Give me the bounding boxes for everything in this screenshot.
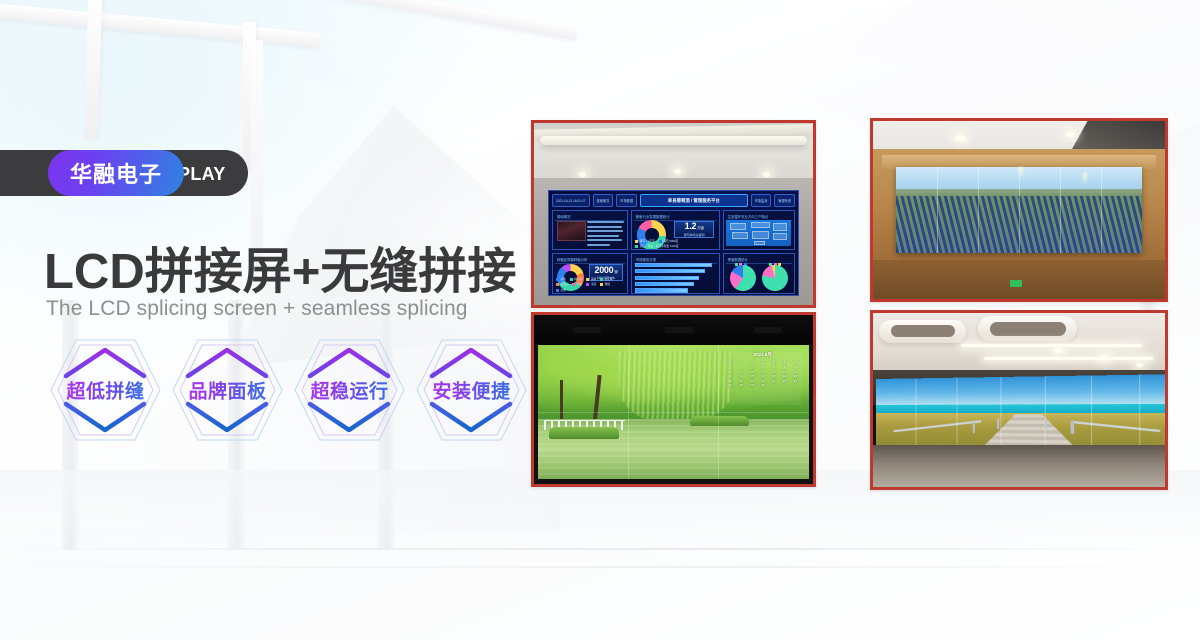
wall-washer-light-2 <box>1083 173 1087 185</box>
dashboard-nav-overview: 基础概况 <box>593 194 614 207</box>
pie-charts-quarterly <box>726 267 791 289</box>
bar-chart-services <box>635 263 715 291</box>
dashboard-card-service-categories: 市场服务分类 <box>631 253 720 293</box>
calendar-day <box>736 365 746 369</box>
chart-legend-industry: 葡萄 1.2万亩 葡萄 5000亩 酒庄、果品、观光等配套 1100亩 <box>635 239 715 249</box>
calendar-day <box>725 365 735 369</box>
calendar-day: 2 <box>758 365 768 369</box>
dashboard-nav-monitor: 市场监测 <box>751 194 772 207</box>
legend-entry: 基地 <box>560 278 565 281</box>
feature-badge-list: 超低拼缝 品牌面板 超稳运行 <box>48 336 529 444</box>
ceiling-fixture-1-recess <box>891 325 955 337</box>
feature-badge-label: 安装便捷 <box>414 377 529 404</box>
photo-solar-farm-video-wall[interactable] <box>870 118 1168 302</box>
rope-post-4 <box>1071 420 1074 433</box>
page-title: LCD拼接屏+无缝拼接 <box>44 232 516 303</box>
ceiling-spotlight-1 <box>579 172 586 177</box>
calendar-day: 22 <box>747 379 757 383</box>
calendar-title: 2021 6月 <box>725 352 801 358</box>
photo-willow-lake-video-wall[interactable]: 2021 6月 日一 二三 四五 六 123456789101112131415… <box>531 312 816 487</box>
video-wall-screen-beach <box>876 374 1165 452</box>
calendar-day: 19 <box>790 374 800 378</box>
hall-ceiling-light-2 <box>1066 132 1075 137</box>
calendar-day: 13 <box>725 374 735 378</box>
calendar-day: 21 <box>736 379 746 383</box>
lakeside-hedge-2 <box>690 416 750 425</box>
photo-control-room-dashboard[interactable]: 2021-04-13 16:01:27 基础概况 市场数据 单县葡萄酒 / 管理… <box>531 120 816 308</box>
ceiling-light-strip-2 <box>984 357 1153 360</box>
brand-badge-row: 商显大屏 / DISPLAY 华融电子 <box>48 150 248 196</box>
lobby-floor <box>873 445 1165 487</box>
ceiling-cove <box>540 136 808 145</box>
calendar-overlay: 2021 6月 日一 二三 四五 六 123456789101112131415… <box>725 352 801 405</box>
calendar-day: 4 <box>779 365 789 369</box>
calendar-day: 11 <box>779 370 789 374</box>
dashboard-card-quarterly: 季度数据统计 <box>723 253 795 293</box>
calendar-day: 23 <box>758 379 768 383</box>
card-header: 种植区规模种植分布 <box>555 256 625 264</box>
calendar-day: 20 <box>725 379 735 383</box>
calendar-day: 10 <box>769 370 779 374</box>
metric-unit: 家 <box>614 270 617 274</box>
pie-chart-right <box>762 265 788 291</box>
brand-pill: 华融电子 <box>48 150 184 196</box>
calendar-day: 26 <box>790 379 800 383</box>
video-wall-screen-solar <box>896 167 1141 252</box>
calendar-day <box>769 383 779 387</box>
exit-sign-icon <box>1010 280 1022 287</box>
chart-legend-distribution: 基地 种子园 采摘 加工区 示范园 育苗 冷链 物流 文旅 <box>556 277 624 292</box>
hero-content: 商显大屏 / DISPLAY 华融电子 LCD拼接屏+无缝拼接 The LCD … <box>0 0 530 640</box>
calendar-day: 8 <box>747 370 757 374</box>
legend-entry: 采摘 <box>591 278 596 281</box>
legend-entry: 种子园 <box>574 278 582 281</box>
ceiling-light-strip-1 <box>961 344 1142 347</box>
feature-badge-3[interactable]: 安装便捷 <box>414 336 529 444</box>
lakeside-hedge <box>549 427 619 439</box>
tree-trunk-1 <box>560 380 563 423</box>
calendar-day: 7 <box>736 370 746 374</box>
rope-post-1 <box>972 420 975 433</box>
calendar-day <box>790 383 800 387</box>
calendar-day: 3 <box>769 365 779 369</box>
metric-block-area: 1.2万亩 葡萄种植总面积 <box>674 221 714 238</box>
card-thumbnail-image <box>557 221 586 241</box>
calendar-day: 30 <box>758 383 768 387</box>
legend-entry: 冷链 <box>591 283 596 286</box>
calendar-day: 15 <box>747 374 757 378</box>
dashboard-card-grid: 基础概况 葡萄行业发展数据统计 1.2万亩 葡萄种植总 <box>552 210 795 294</box>
dashboard-card-eco-flow: 生态循环农业方向三产融合 <box>723 210 795 250</box>
card-header: 基础概况 <box>555 213 625 221</box>
calendar-day: 18 <box>779 374 789 378</box>
legend-entry: 示范园 <box>560 283 568 286</box>
dashboard-card-overview: 基础概况 <box>552 210 628 250</box>
calendar-day: 14 <box>736 374 746 378</box>
ceiling-spotlight-3 <box>763 172 770 177</box>
legend-entry: 育苗 <box>577 283 582 286</box>
dashboard-nav-market: 市场数据 <box>616 194 637 207</box>
metric-caption: 葡萄种植总面积 <box>684 233 705 237</box>
dashboard-timestamp: 2021-04-13 16:01:27 <box>552 194 590 207</box>
calendar-day: 29 <box>747 383 757 387</box>
pie-chart-left <box>730 265 756 291</box>
metric-unit: 万亩 <box>697 226 704 230</box>
wall-washer-light-1 <box>1019 167 1023 179</box>
feature-badge-label: 超稳运行 <box>292 377 407 404</box>
legend-entry: 物流 <box>605 283 610 286</box>
calendar-day: 27 <box>725 383 735 387</box>
calendar-day <box>779 383 789 387</box>
feature-badge-2[interactable]: 超稳运行 <box>292 336 407 444</box>
calendar-day: 28 <box>736 383 746 387</box>
dashboard-card-planting-distribution: 种植区规模种植分布 2000家 种植经营主体 基地 种子园 采摘 加工区 示范园 <box>552 253 628 293</box>
calendar-day: 25 <box>779 379 789 383</box>
dashboard-card-industry-stats: 葡萄行业发展数据统计 1.2万亩 葡萄种植总面积 葡萄 1.2万亩 葡萄 500… <box>631 210 720 250</box>
video-wall-top-bezel <box>534 315 813 345</box>
calendar-day: 17 <box>769 374 779 378</box>
video-wall-screen-lake: 2021 6月 日一 二三 四五 六 123456789101112131415… <box>538 345 809 479</box>
willow-branches <box>619 351 733 426</box>
calendar-day: 6 <box>725 370 735 374</box>
calendar-day-grid: 1234567891011121314151617181920212223242… <box>725 365 801 388</box>
legend-entry: 葡萄 1.2万亩 <box>640 240 655 243</box>
dashboard-header-bar: 2021-04-13 16:01:27 基础概况 市场数据 单县葡萄酒 / 管理… <box>552 194 795 207</box>
calendar-day: 9 <box>758 370 768 374</box>
metric-value: 1.2 <box>685 221 697 231</box>
calendar-day: 1 <box>747 365 757 369</box>
calendar-day: 12 <box>790 370 800 374</box>
photo-beach-boardwalk-video-wall[interactable] <box>870 310 1168 490</box>
page-subtitle: The LCD splicing screen + seamless splic… <box>46 297 468 321</box>
metric-value: 2000 <box>594 265 613 275</box>
feature-badge-label: 超低拼缝 <box>48 377 163 404</box>
ceiling-downlight-1 <box>1054 348 1063 353</box>
calendar-day: 24 <box>769 379 779 383</box>
legend-entry: 葡萄 5000亩 <box>663 240 678 243</box>
feature-badge-1[interactable]: 品牌面板 <box>170 336 285 444</box>
dashboard-nav-system: 管理系统 <box>774 194 795 207</box>
calendar-weekday-row: 日一 二三 四五 六 <box>725 360 801 364</box>
calendar-day: 16 <box>758 374 768 378</box>
legend-entry: 酒庄、果品、观光等配套 1100亩 <box>640 245 679 248</box>
dashboard-title: 单县葡萄酒 / 管理服务平台 <box>640 194 747 207</box>
beach-sky <box>876 374 1165 406</box>
dashboard-screen: 2021-04-13 16:01:27 基础概况 市场数据 单县葡萄酒 / 管理… <box>548 190 799 296</box>
legend-entry: 文旅 <box>560 289 565 292</box>
calendar-day: 5 <box>790 365 800 369</box>
feature-badge-0[interactable]: 超低拼缝 <box>48 336 163 444</box>
legend-entry: 加工区 <box>605 278 613 281</box>
card-text-lines <box>587 221 624 242</box>
ceiling-fixture-2-recess <box>990 322 1066 336</box>
ceiling-downlight-2 <box>1101 355 1109 360</box>
ceiling-spotlight-2 <box>674 169 681 174</box>
flow-diagram <box>726 220 791 246</box>
feature-badge-label: 品牌面板 <box>170 377 285 404</box>
